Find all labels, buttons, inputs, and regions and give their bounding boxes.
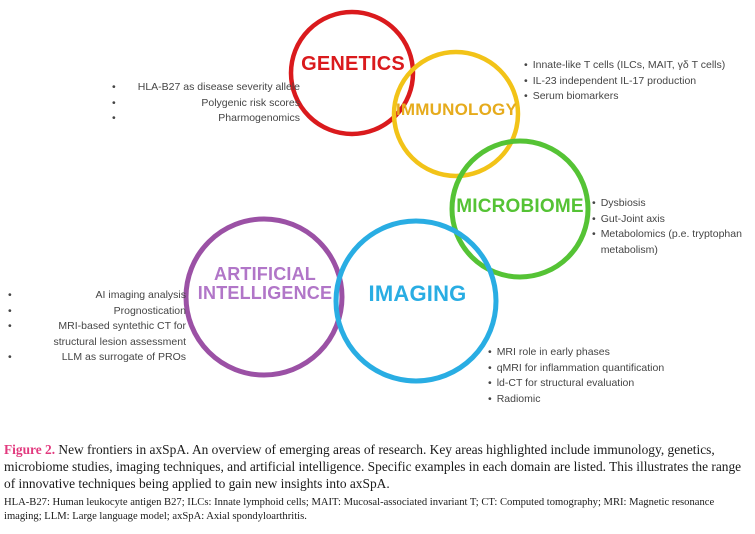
bullet-list-genetics: • HLA-B27 as disease severity allele • P…	[112, 80, 300, 127]
list-item: • Innate-like T cells (ILCs, MAIT, γδ T …	[524, 58, 752, 74]
circle-label-genetics: GENETICS	[283, 54, 423, 76]
list-item: • Radiomic	[488, 392, 688, 408]
bullet-icon: •	[8, 304, 12, 320]
list-item-label: Gut-Joint axis	[601, 212, 752, 228]
list-item: • MRI-based syntethic CT for structural …	[8, 319, 186, 350]
figure-caption: Figure 2. New frontiers in axSpA. An ove…	[4, 441, 752, 524]
bullet-icon: •	[8, 319, 12, 335]
bullet-icon: •	[112, 80, 116, 96]
list-item: • Pharmogenomics	[112, 111, 300, 127]
list-item-label: MRI role in early phases	[497, 345, 688, 361]
bullet-icon: •	[592, 196, 596, 212]
list-item: • Serum biomarkers	[524, 89, 752, 105]
venn-diagram: GENETICS IMMUNOLOGY MICROBIOME ARTIFICIA…	[0, 0, 755, 440]
list-item-label: Polygenic risk scores	[132, 96, 300, 112]
list-item: • Polygenic risk scores	[112, 96, 300, 112]
bullet-icon: •	[488, 345, 492, 361]
list-item-label: Serum biomarkers	[533, 89, 752, 105]
list-item: • MRI role in early phases	[488, 345, 688, 361]
list-item: • qMRI for inflammation quantification	[488, 361, 688, 377]
list-item: • Gut-Joint axis	[592, 212, 752, 228]
circle-label-ai-line2: INTELLIGENCE	[194, 284, 336, 303]
list-item: • IL-23 independent IL-17 production	[524, 74, 752, 90]
caption-main-text: Figure 2. New frontiers in axSpA. An ove…	[4, 441, 752, 492]
bullet-icon: •	[488, 361, 492, 377]
bullet-icon: •	[488, 376, 492, 392]
bullet-list-imaging: • MRI role in early phases • qMRI for in…	[488, 345, 688, 407]
bullet-icon: •	[112, 96, 116, 112]
bullet-icon: •	[488, 392, 492, 408]
bullet-icon: •	[592, 212, 596, 228]
list-item-label: Radiomic	[497, 392, 688, 408]
list-item: • Prognostication	[8, 304, 186, 320]
bullet-list-microbiome: • Dysbiosis • Gut-Joint axis • Metabolom…	[592, 196, 752, 258]
list-item-label: ld-CT for structural evaluation	[497, 376, 688, 392]
list-item-label: Dysbiosis	[601, 196, 752, 212]
list-item-label: Prognostication	[28, 304, 186, 320]
bullet-list-immunology: • Innate-like T cells (ILCs, MAIT, γδ T …	[524, 58, 752, 105]
bullet-list-artificial-intelligence: • AI imaging analysis • Prognostication …	[8, 288, 186, 366]
bullet-icon: •	[112, 111, 116, 127]
figure-container: GENETICS IMMUNOLOGY MICROBIOME ARTIFICIA…	[0, 0, 755, 534]
list-item-label: LLM as surrogate of PROs	[28, 350, 186, 366]
list-item-label: IL-23 independent IL-17 production	[533, 74, 752, 90]
list-item-label: Metabolomics (p.e. tryptophan metabolism…	[601, 227, 752, 258]
list-item-label: qMRI for inflammation quantification	[497, 361, 688, 377]
list-item: • ld-CT for structural evaluation	[488, 376, 688, 392]
circle-label-microbiome: MICROBIOME	[444, 197, 596, 218]
list-item: • LLM as surrogate of PROs	[8, 350, 186, 366]
list-item: • HLA-B27 as disease severity allele	[112, 80, 300, 96]
caption-body-text: New frontiers in axSpA. An overview of e…	[4, 442, 741, 491]
bullet-icon: •	[8, 350, 12, 366]
list-item: • AI imaging analysis	[8, 288, 186, 304]
circle-label-artificial-intelligence: ARTIFICIAL INTELLIGENCE	[194, 265, 336, 304]
bullet-icon: •	[524, 89, 528, 105]
caption-abbreviations: HLA-B27: Human leukocyte antigen B27; IL…	[4, 496, 752, 524]
caption-figure-label: Figure 2.	[4, 442, 55, 457]
bullet-icon: •	[524, 74, 528, 90]
list-item-label: HLA-B27 as disease severity allele	[132, 80, 300, 96]
list-item-label: AI imaging analysis	[28, 288, 186, 304]
circle-label-imaging: IMAGING	[345, 282, 490, 306]
list-item: • Dysbiosis	[592, 196, 752, 212]
circle-label-ai-line1: ARTIFICIAL	[214, 264, 316, 284]
list-item-label: Pharmogenomics	[132, 111, 300, 127]
bullet-icon: •	[592, 227, 596, 243]
circle-label-immunology: IMMUNOLOGY	[384, 101, 529, 119]
list-item-label: Innate-like T cells (ILCs, MAIT, γδ T ce…	[533, 58, 752, 74]
bullet-icon: •	[8, 288, 12, 304]
list-item-label: MRI-based syntethic CT for structural le…	[28, 319, 186, 350]
list-item: • Metabolomics (p.e. tryptophan metaboli…	[592, 227, 752, 258]
bullet-icon: •	[524, 58, 528, 74]
